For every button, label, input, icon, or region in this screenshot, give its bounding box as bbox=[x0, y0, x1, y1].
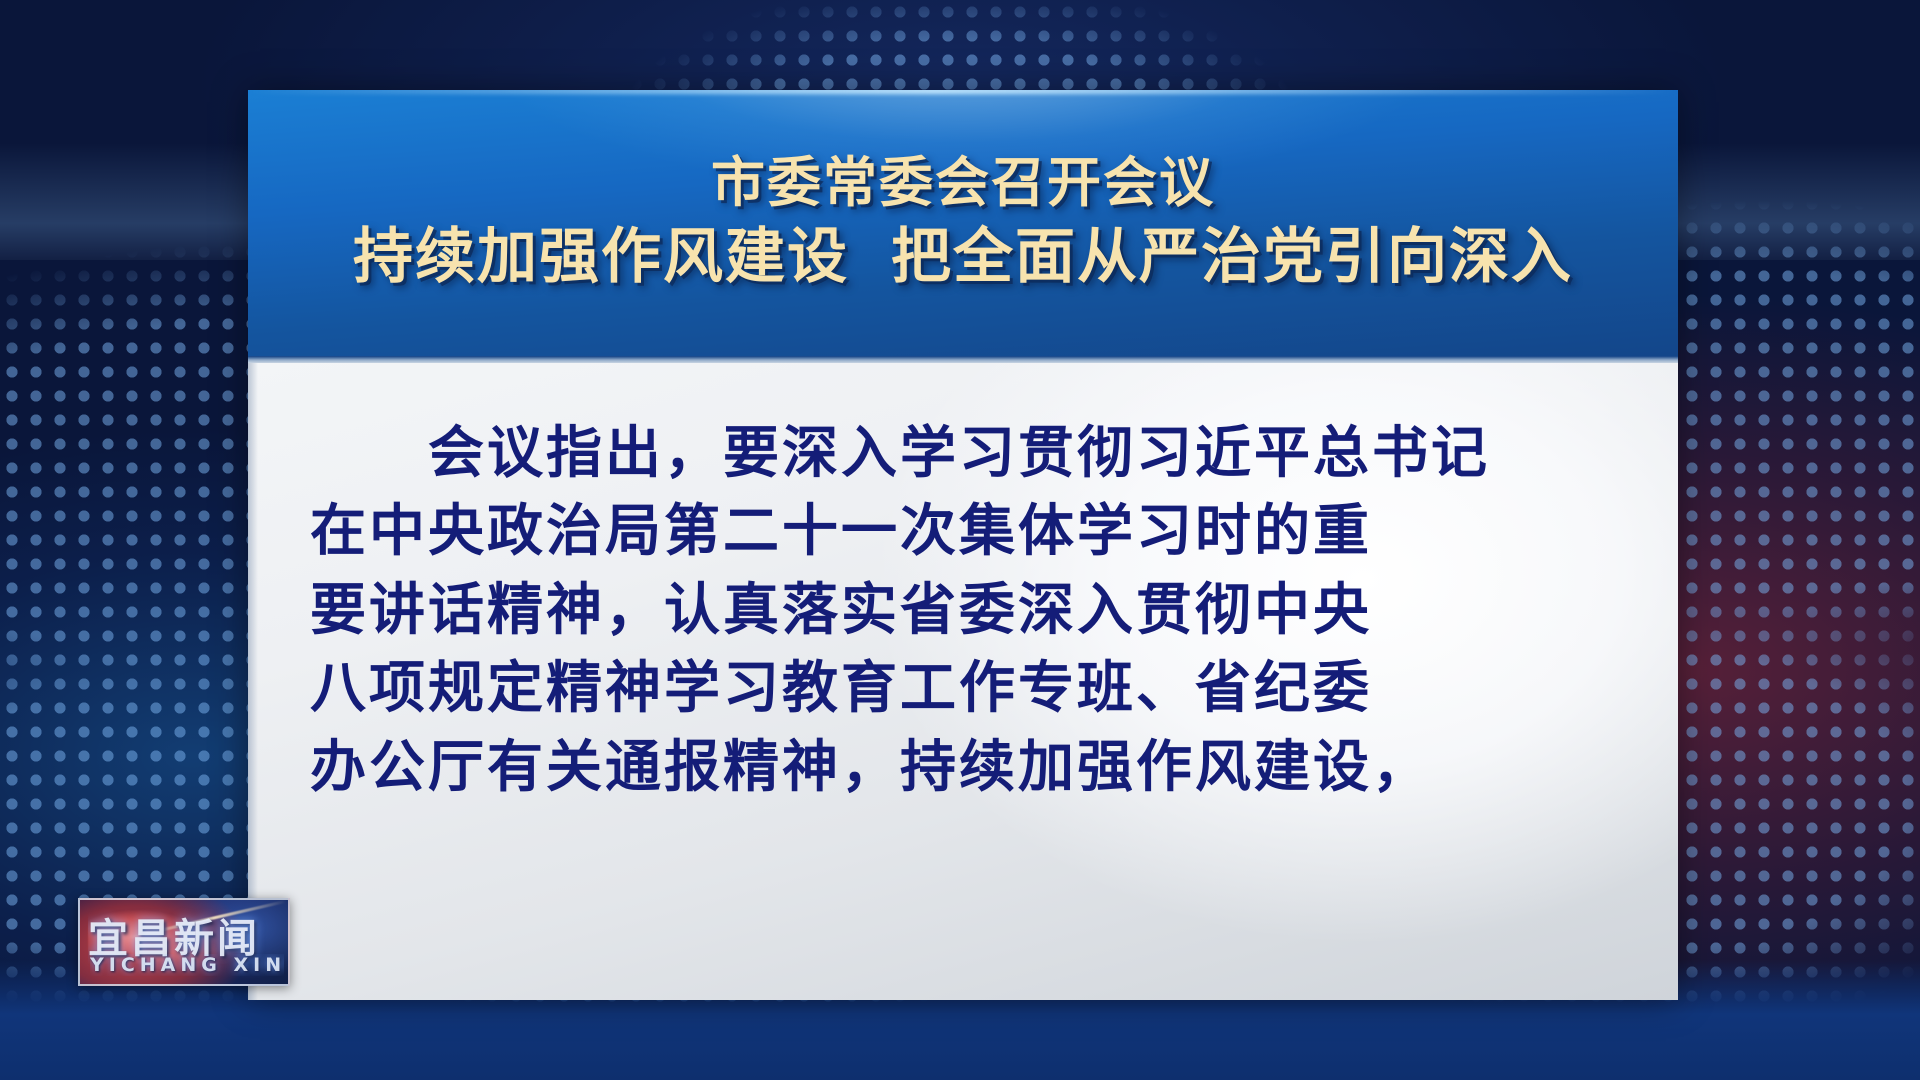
body-paragraph: 会议指出，要深入学习贯彻习近平总书记 在中央政治局第二十一次集体学习时的重 要讲… bbox=[310, 415, 1608, 807]
headline-line-2: 持续加强作风建设把全面从严治党引向深入 bbox=[353, 223, 1573, 293]
station-logo-bug: 宜昌新闻 YICHANG XINWEN bbox=[78, 898, 290, 986]
header-divider-edge bbox=[248, 356, 1678, 363]
body-line: 在中央政治局第二十一次集体学习时的重 bbox=[310, 493, 1608, 571]
body-line: 办公厅有关通报精神，持续加强作风建设， bbox=[310, 729, 1608, 807]
headline-header-panel: 市委常委会召开会议 持续加强作风建设把全面从严治党引向深入 bbox=[248, 90, 1678, 356]
headline-line-2-part-1: 持续加强作风建设 bbox=[353, 222, 849, 292]
headline-line-1: 市委常委会召开会议 bbox=[711, 153, 1215, 213]
body-line: 要讲话精神，认真落实省委深入贯彻中央 bbox=[310, 572, 1608, 650]
body-line: 会议指出，要深入学习贯彻习近平总书记 bbox=[310, 415, 1608, 493]
body-line: 八项规定精神学习教育工作专班、省纪委 bbox=[310, 650, 1608, 728]
body-content-panel: 会议指出，要深入学习贯彻习近平总书记 在中央政治局第二十一次集体学习时的重 要讲… bbox=[248, 363, 1678, 1000]
station-logo-pinyin-text: YICHANG XINWEN bbox=[90, 954, 284, 976]
news-lower-third-card: 市委常委会召开会议 持续加强作风建设把全面从严治党引向深入 会议指出，要深入学习… bbox=[248, 90, 1678, 1000]
headline-line-2-part-2: 把全面从严治党引向深入 bbox=[891, 222, 1573, 292]
